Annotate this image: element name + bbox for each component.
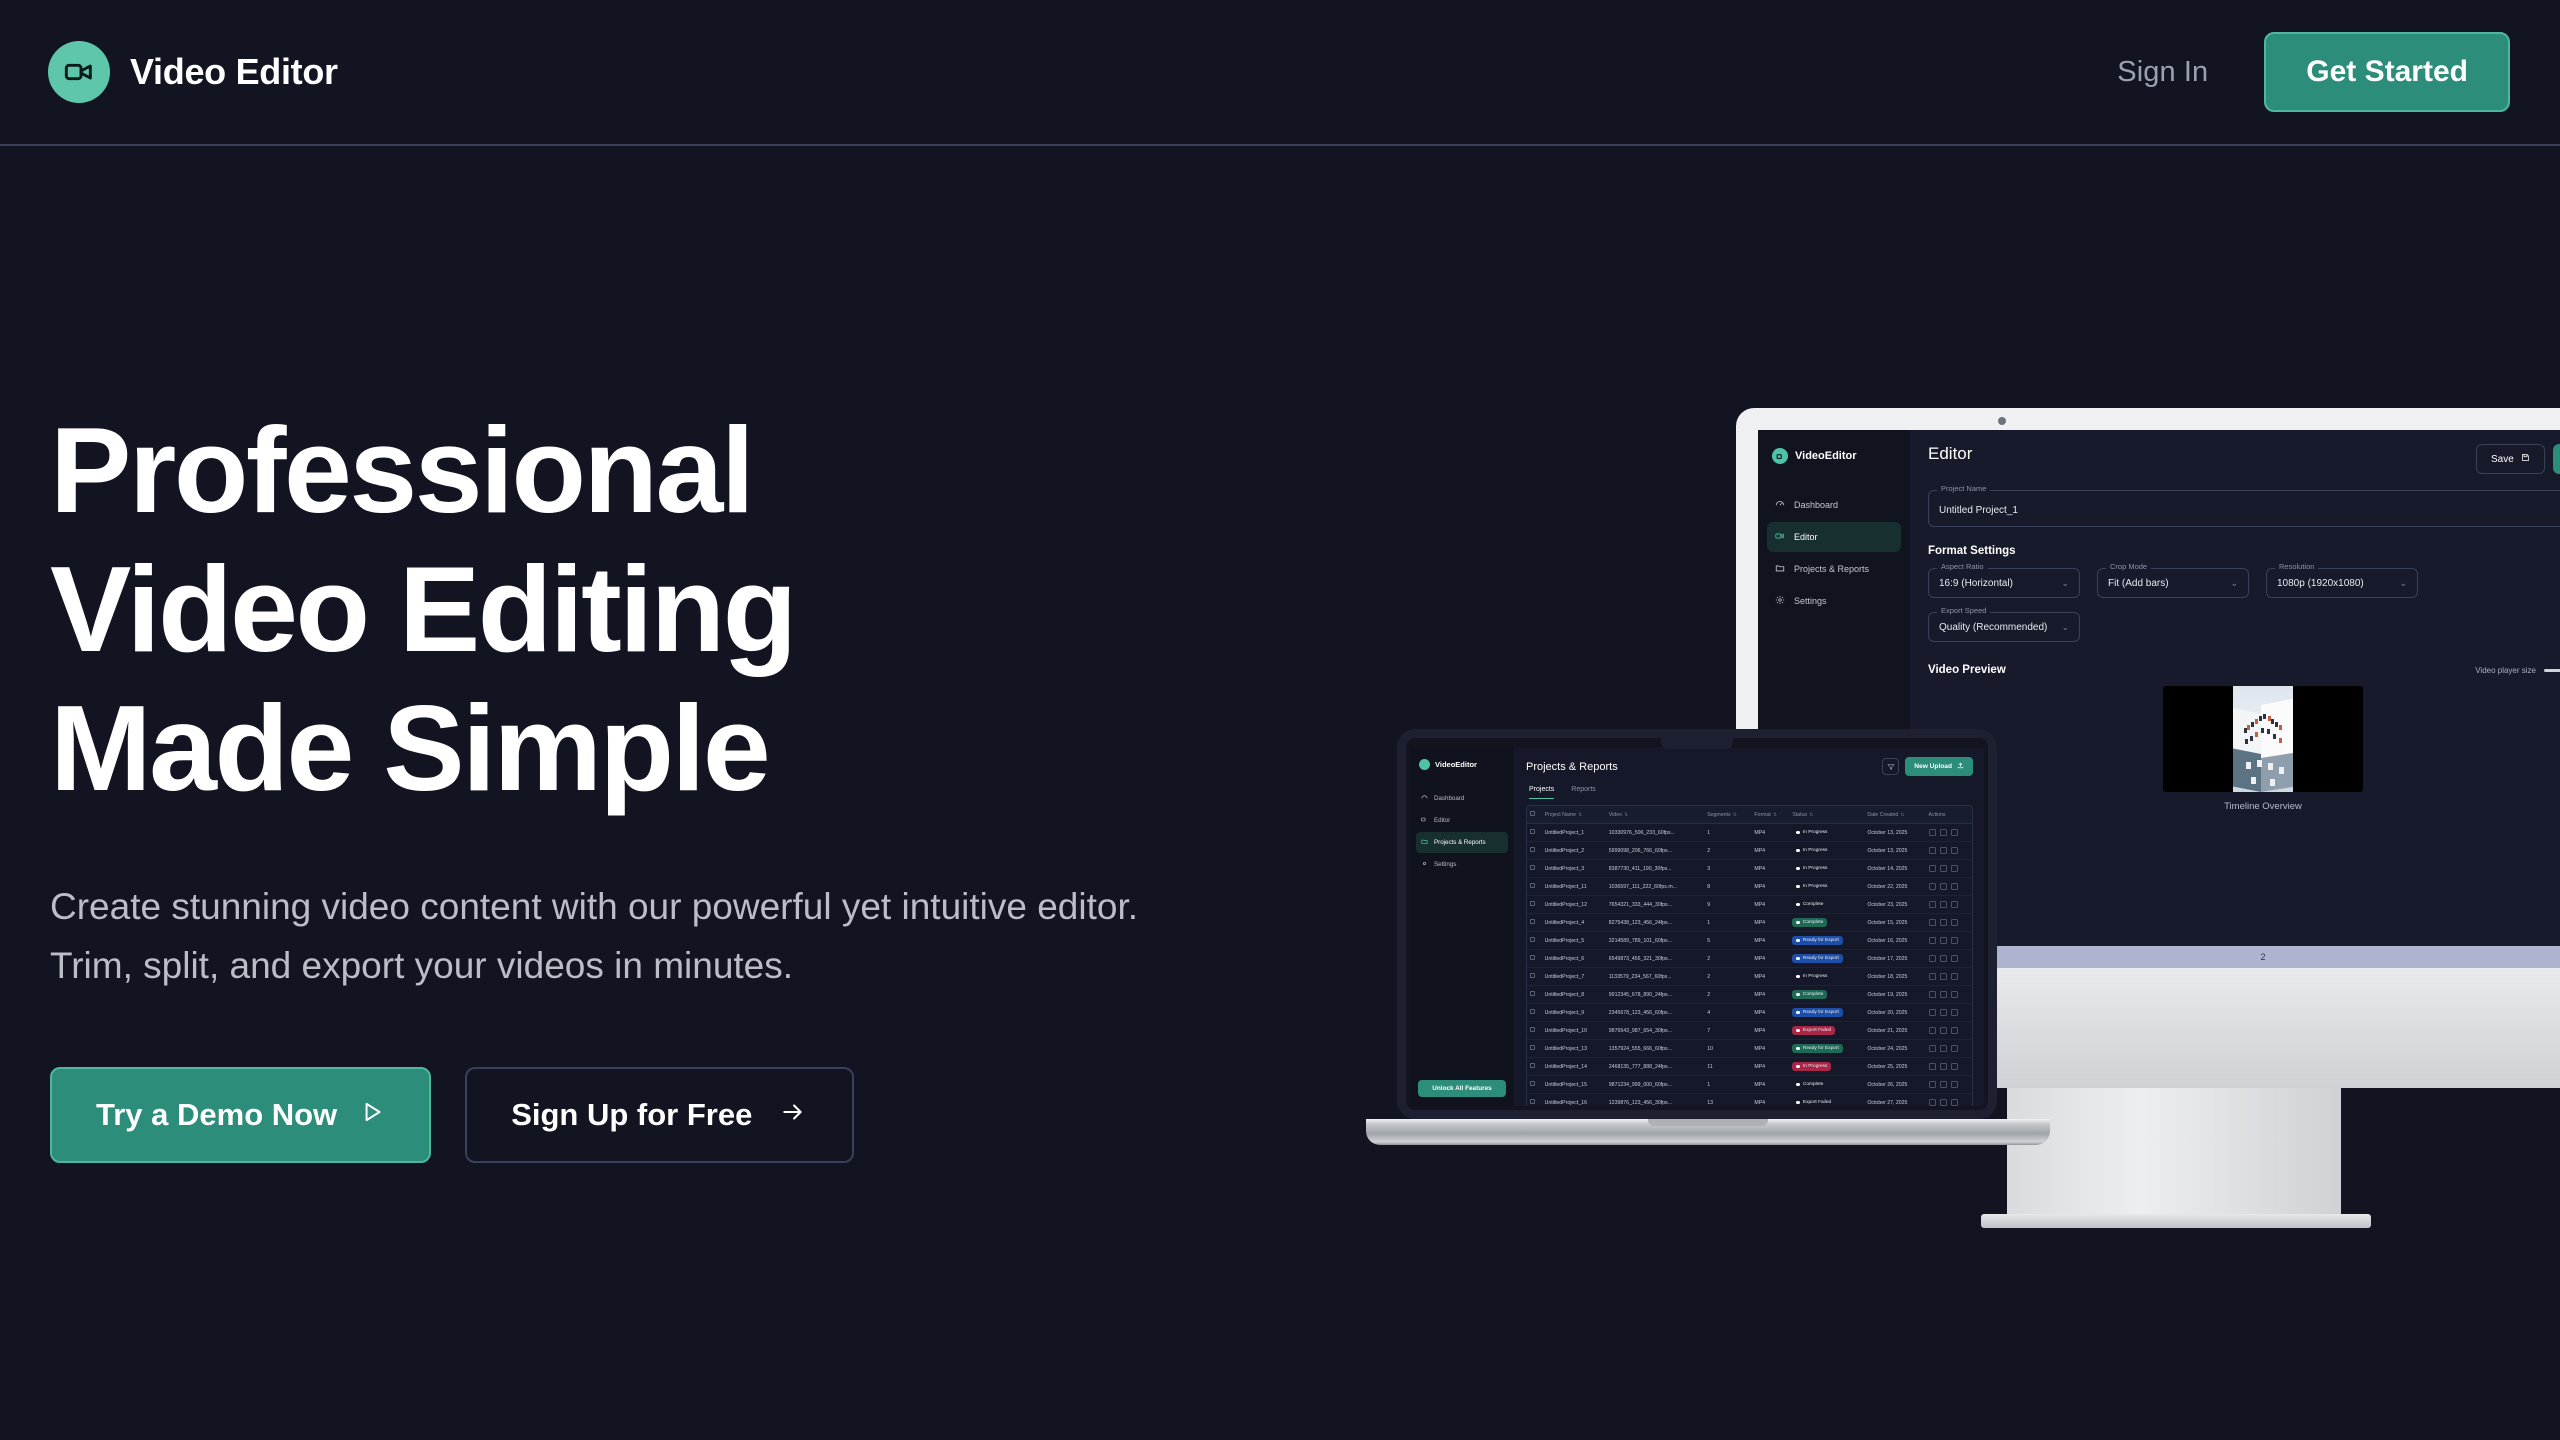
export-speed-value: Quality (Recommended)	[1939, 622, 2047, 633]
download-icon[interactable]	[1940, 955, 1947, 962]
table-row[interactable]: UntitledProject_127654321_333_444_30fps.…	[1527, 896, 1972, 914]
cell-segments: 2	[1704, 842, 1751, 860]
crop-mode-value: Fit (Add bars)	[2108, 578, 2169, 589]
export-speed-select[interactable]: Export Speed Quality (Recommended) ⌄	[1928, 612, 2080, 642]
download-icon[interactable]	[1940, 1045, 1947, 1052]
cell-video: 8275438_123_456_24fps...	[1606, 914, 1704, 932]
trash-icon[interactable]	[1951, 1063, 1958, 1070]
monitor-nav: Dashboard Editor	[1758, 490, 1910, 616]
laptop-page-title: Projects & Reports	[1526, 761, 1618, 773]
table-row[interactable]: UntitledProject_66549873_456_321_30fps..…	[1527, 950, 1972, 968]
status-dot-icon	[1796, 1047, 1800, 1051]
sign-up-label: Sign Up for Free	[511, 1097, 752, 1133]
cell-format: MP4	[1751, 1022, 1789, 1040]
status-dot-icon	[1796, 831, 1800, 835]
unlock-all-features-button[interactable]: Unlock All Features	[1418, 1080, 1506, 1097]
laptop-mockup: VideoEditor Dashboard	[1366, 729, 2050, 1145]
brand[interactable]: Video Editor	[48, 41, 338, 103]
get-started-button[interactable]: Get Started	[2264, 32, 2510, 112]
timeline-value: 2	[2260, 952, 2265, 962]
sidebar-item-editor[interactable]: Editor	[1767, 522, 1901, 552]
cell-status: Complete	[1789, 914, 1864, 932]
cell-status: Ready for Export	[1789, 1004, 1864, 1022]
table-row[interactable]: UntitledProject_25999098_206_766_60fps..…	[1527, 842, 1972, 860]
checkbox-icon[interactable]	[1530, 1045, 1535, 1050]
cell-date-created: October 13, 2025	[1864, 824, 1925, 842]
checkbox-icon[interactable]	[1530, 1009, 1535, 1014]
edit-icon[interactable]	[1929, 829, 1936, 836]
hero-cta-group: Try a Demo Now Sign Up for Free	[50, 1067, 1250, 1163]
download-icon[interactable]	[1940, 919, 1947, 926]
status-badge: Complete	[1792, 1080, 1827, 1089]
sidebar-label: Projects & Reports	[1794, 564, 1869, 574]
chevron-down-icon: ⌄	[2061, 578, 2069, 589]
cell-format: MP4	[1751, 860, 1789, 878]
export-speed-legend: Export Speed	[1937, 606, 1990, 615]
folder-icon	[1775, 563, 1785, 575]
sidebar-item-dashboard[interactable]: Dashboard	[1767, 490, 1901, 520]
laptop-trackpad-notch	[1648, 1119, 1768, 1126]
cell-segments: 8	[1704, 878, 1751, 896]
trash-icon[interactable]	[1951, 1045, 1958, 1052]
download-icon[interactable]	[1940, 1099, 1947, 1106]
video-camera-icon	[1775, 531, 1785, 543]
sign-up-free-button[interactable]: Sign Up for Free	[465, 1067, 854, 1163]
edit-icon[interactable]	[1929, 1081, 1936, 1088]
download-icon[interactable]	[1940, 937, 1947, 944]
row-checkbox[interactable]	[1527, 1058, 1542, 1076]
edit-icon[interactable]	[1929, 1027, 1936, 1034]
header-actions: Sign In Get Started	[2117, 32, 2510, 112]
cell-segments: 2	[1704, 950, 1751, 968]
download-icon[interactable]	[1940, 973, 1947, 980]
trash-icon[interactable]	[1951, 829, 1958, 836]
status-badge: In Progress	[1792, 972, 1831, 981]
cell-format: MP4	[1751, 842, 1789, 860]
video-camera-icon	[1772, 448, 1788, 464]
sort-icon: ⇅	[1624, 812, 1628, 818]
sort-icon: ⇅	[1578, 812, 1582, 818]
sort-icon: ⇅	[1900, 812, 1904, 818]
download-icon[interactable]	[1940, 991, 1947, 998]
laptop-notch-icon	[1661, 738, 1733, 749]
checkbox-icon[interactable]	[1530, 883, 1535, 888]
table-header-row: Project Name⇅ Video⇅ Segments⇅ Format⇅ S…	[1527, 806, 1972, 824]
export-button[interactable]: Exp	[2553, 444, 2560, 474]
cell-project-name: UntitledProject_7	[1542, 968, 1606, 986]
trash-icon[interactable]	[1951, 1081, 1958, 1088]
edit-icon[interactable]	[1929, 1009, 1936, 1016]
cell-status: In Progress	[1789, 968, 1864, 986]
cell-project-name: UntitledProject_8	[1542, 986, 1606, 1004]
checkbox-icon[interactable]	[1530, 937, 1535, 942]
table-row[interactable]: UntitledProject_71133579_234_567_60fps..…	[1527, 968, 1972, 986]
row-checkbox[interactable]	[1527, 986, 1542, 1004]
cell-video: 8387730_411_190_30fps...	[1606, 860, 1704, 878]
cell-project-name: UntitledProject_14	[1542, 1058, 1606, 1076]
laptop-brand-label: VideoEditor	[1435, 760, 1477, 769]
cell-project-name: UntitledProject_3	[1542, 860, 1606, 878]
aspect-ratio-legend: Aspect Ratio	[1937, 562, 1988, 571]
row-checkbox[interactable]	[1527, 860, 1542, 878]
cell-actions	[1926, 896, 1972, 914]
laptop-tabs: Projects Reports	[1529, 786, 1973, 799]
download-icon[interactable]	[1940, 1009, 1947, 1016]
checkbox-icon[interactable]	[1530, 1099, 1535, 1104]
filter-funnel-icon[interactable]	[1882, 758, 1899, 775]
cell-segments: 13	[1704, 1094, 1751, 1107]
crop-mode-select[interactable]: Crop Mode Fit (Add bars) ⌄	[2097, 568, 2249, 598]
gear-icon	[1775, 595, 1785, 607]
cell-video: 1133579_234_567_60fps...	[1606, 968, 1704, 986]
cell-project-name: UntitledProject_15	[1542, 1076, 1606, 1094]
export-speed-row: Export Speed Quality (Recommended) ⌄	[1928, 612, 2560, 642]
download-icon[interactable]	[1940, 847, 1947, 854]
laptop-screen: VideoEditor Dashboard	[1410, 747, 1984, 1106]
cell-date-created: October 21, 2025	[1864, 1022, 1925, 1040]
video-camera-icon	[48, 41, 110, 103]
col-video[interactable]: Video⇅	[1606, 806, 1704, 824]
monitor-brand-label: VideoEditor	[1795, 450, 1857, 462]
checkbox-icon[interactable]	[1530, 901, 1535, 906]
edit-icon[interactable]	[1929, 865, 1936, 872]
cell-project-name: UntitledProject_2	[1542, 842, 1606, 860]
chevron-down-icon: ⌄	[2061, 622, 2069, 633]
cell-video: 9912345_678_890_24fps...	[1606, 986, 1704, 1004]
status-badge: Ready for Export	[1792, 954, 1843, 963]
edit-icon[interactable]	[1929, 937, 1936, 944]
status-badge: Complete	[1792, 990, 1827, 999]
sidebar-item-dashboard[interactable]: Dashboard	[1416, 788, 1508, 809]
cell-project-name: UntitledProject_5	[1542, 932, 1606, 950]
cell-format: MP4	[1751, 896, 1789, 914]
col-status[interactable]: Status⇅	[1789, 806, 1864, 824]
row-checkbox[interactable]	[1527, 932, 1542, 950]
row-checkbox[interactable]	[1527, 1004, 1542, 1022]
status-dot-icon	[1796, 957, 1800, 961]
col-project-name[interactable]: Project Name⇅	[1542, 806, 1606, 824]
projects-table: Project Name⇅ Video⇅ Segments⇅ Format⇅ S…	[1527, 806, 1972, 1106]
tab-reports[interactable]: Reports	[1571, 786, 1596, 799]
status-dot-icon	[1796, 1029, 1800, 1033]
sidebar-label: Editor	[1794, 532, 1818, 542]
cell-date-created: October 22, 2025	[1864, 878, 1925, 896]
row-checkbox[interactable]	[1527, 1094, 1542, 1107]
checkbox-icon[interactable]	[1530, 829, 1535, 834]
aspect-ratio-select[interactable]: Aspect Ratio 16:9 (Horizontal) ⌄	[1928, 568, 2080, 598]
download-icon[interactable]	[1940, 1081, 1947, 1088]
tab-projects[interactable]: Projects	[1529, 786, 1554, 799]
status-dot-icon	[1796, 885, 1800, 889]
cell-actions	[1926, 986, 1972, 1004]
trash-icon[interactable]	[1951, 955, 1958, 962]
sidebar-label: Settings	[1434, 861, 1456, 868]
cell-video: 10330976_506_233_60fps...	[1606, 824, 1704, 842]
player-size-slider-group[interactable]: Video player size	[2475, 666, 2560, 675]
trash-icon[interactable]	[1951, 847, 1958, 854]
download-icon[interactable]	[1940, 883, 1947, 890]
table-row[interactable]: UntitledProject_48275438_123_456_24fps..…	[1527, 914, 1972, 932]
status-dot-icon	[1796, 1065, 1800, 1069]
cell-format: MP4	[1751, 878, 1789, 896]
edit-icon[interactable]	[1929, 919, 1936, 926]
cell-actions	[1926, 1058, 1972, 1076]
try-demo-button[interactable]: Try a Demo Now	[50, 1067, 431, 1163]
cell-date-created: October 25, 2025	[1864, 1058, 1925, 1076]
cell-date-created: October 18, 2025	[1864, 968, 1925, 986]
row-checkbox[interactable]	[1527, 968, 1542, 986]
cell-format: MP4	[1751, 1076, 1789, 1094]
sort-icon: ⇅	[1733, 812, 1737, 818]
cell-project-name: UntitledProject_12	[1542, 896, 1606, 914]
monitor-sidebar-brand: VideoEditor	[1758, 448, 1910, 464]
cell-format: MP4	[1751, 986, 1789, 1004]
format-settings-fields: Aspect Ratio 16:9 (Horizontal) ⌄ Crop Mo…	[1928, 568, 2560, 598]
player-size-slider[interactable]	[2544, 669, 2560, 672]
trash-icon[interactable]	[1951, 973, 1958, 980]
edit-icon[interactable]	[1929, 1099, 1936, 1106]
status-dot-icon	[1796, 993, 1800, 997]
laptop-base	[1366, 1119, 2050, 1145]
cell-actions	[1926, 824, 1972, 842]
status-dot-icon	[1796, 975, 1800, 979]
hero-title-line-2: Video Editing	[50, 541, 795, 677]
checkbox-icon[interactable]	[1530, 865, 1535, 870]
download-icon[interactable]	[1940, 829, 1947, 836]
checkbox-icon[interactable]	[1530, 991, 1535, 996]
save-button[interactable]: Save	[2476, 444, 2545, 474]
table-row[interactable]: UntitledProject_92345678_123_456_60fps..…	[1527, 1004, 1972, 1022]
cell-status: In Progress	[1789, 842, 1864, 860]
cell-date-created: October 26, 2025	[1864, 1076, 1925, 1094]
upload-icon	[1957, 762, 1964, 771]
status-dot-icon	[1796, 903, 1800, 907]
sidebar-item-projects-reports[interactable]: Projects & Reports	[1767, 554, 1901, 584]
cell-actions	[1926, 968, 1972, 986]
gear-icon	[1421, 860, 1428, 869]
row-checkbox[interactable]	[1527, 1076, 1542, 1094]
col-format[interactable]: Format⇅	[1751, 806, 1789, 824]
webcam-dot-icon	[1998, 417, 2006, 425]
cell-segments: 2	[1704, 968, 1751, 986]
project-name-value: Untitled Project_1	[1939, 505, 2018, 516]
cell-date-created: October 17, 2025	[1864, 950, 1925, 968]
row-checkbox[interactable]	[1527, 914, 1542, 932]
checkbox-icon[interactable]	[1530, 1081, 1535, 1086]
video-preview-frame	[2233, 686, 2293, 792]
cell-segments: 1	[1704, 914, 1751, 932]
save-button-label: Save	[2491, 454, 2514, 465]
sidebar-label: Dashboard	[1434, 795, 1464, 802]
edit-icon[interactable]	[1929, 883, 1936, 890]
cell-status: Ready for Export	[1789, 932, 1864, 950]
laptop-nav: Dashboard Editor P	[1410, 788, 1514, 875]
select-all-checkbox-header[interactable]	[1527, 806, 1542, 824]
table-row[interactable]: UntitledProject_109876543_987_654_30fps.…	[1527, 1022, 1972, 1040]
row-checkbox[interactable]	[1527, 1022, 1542, 1040]
checkbox-icon[interactable]	[1530, 919, 1535, 924]
cell-date-created: October 13, 2025	[1864, 842, 1925, 860]
cell-video: 2345678_123_456_60fps...	[1606, 1004, 1704, 1022]
table-head: Project Name⇅ Video⇅ Segments⇅ Format⇅ S…	[1527, 806, 1972, 824]
status-dot-icon	[1796, 1083, 1800, 1087]
cell-actions	[1926, 1004, 1972, 1022]
sidebar-item-editor[interactable]: Editor	[1416, 810, 1508, 831]
trash-icon[interactable]	[1951, 901, 1958, 908]
col-date-created[interactable]: Date Created⇅	[1864, 806, 1925, 824]
download-icon[interactable]	[1940, 1063, 1947, 1070]
table-row[interactable]: UntitledProject_111036597_111_222_60fps.…	[1527, 878, 1972, 896]
download-icon[interactable]	[1940, 1027, 1947, 1034]
cell-status: Export Failed	[1789, 1022, 1864, 1040]
edit-icon[interactable]	[1929, 1063, 1936, 1070]
cell-format: MP4	[1751, 968, 1789, 986]
checkbox-icon[interactable]	[1530, 1027, 1535, 1032]
cell-format: MP4	[1751, 824, 1789, 842]
table-row[interactable]: UntitledProject_142468135_777_888_24fps.…	[1527, 1058, 1972, 1076]
cell-actions	[1926, 950, 1972, 968]
trash-icon[interactable]	[1951, 865, 1958, 872]
edit-icon[interactable]	[1929, 847, 1936, 854]
cell-status: In Progress	[1789, 824, 1864, 842]
table-row[interactable]: UntitledProject_38387730_411_190_30fps..…	[1527, 860, 1972, 878]
table-row[interactable]: UntitledProject_110330976_506_233_60fps.…	[1527, 824, 1972, 842]
col-segments[interactable]: Segments⇅	[1704, 806, 1751, 824]
sort-icon: ⇅	[1773, 812, 1777, 818]
gauge-icon	[1421, 794, 1428, 803]
cell-format: MP4	[1751, 1058, 1789, 1076]
trash-icon[interactable]	[1951, 937, 1958, 944]
trash-icon[interactable]	[1951, 1099, 1958, 1106]
download-icon[interactable]	[1940, 901, 1947, 908]
aspect-ratio-value: 16:9 (Horizontal)	[1939, 578, 2013, 589]
project-name-field[interactable]: Project Name Untitled Project_1	[1928, 490, 2560, 527]
new-upload-label: New Upload	[1914, 763, 1952, 770]
cell-status: In Progress	[1789, 1058, 1864, 1076]
sidebar-item-projects-reports[interactable]: Projects & Reports	[1416, 832, 1508, 853]
trash-icon[interactable]	[1951, 1009, 1958, 1016]
status-badge: Ready for Export	[1792, 1008, 1843, 1017]
cell-date-created: October 24, 2025	[1864, 1040, 1925, 1058]
resolution-value: 1080p (1920x1080)	[2277, 578, 2364, 589]
monitor-top-actions: Save Exp	[2476, 444, 2560, 474]
cell-video: 6549873_456_321_30fps...	[1606, 950, 1704, 968]
video-preview-heading: Video Preview	[1928, 664, 2006, 676]
cell-project-name: UntitledProject_4	[1542, 914, 1606, 932]
row-checkbox[interactable]	[1527, 1040, 1542, 1058]
video-camera-icon	[1419, 759, 1430, 770]
projects-table-wrapper: Project Name⇅ Video⇅ Segments⇅ Format⇅ S…	[1526, 805, 1973, 1106]
row-checkbox[interactable]	[1527, 950, 1542, 968]
cell-status: Ready for Export	[1789, 1040, 1864, 1058]
cell-project-name: UntitledProject_6	[1542, 950, 1606, 968]
cell-date-created: October 15, 2025	[1864, 914, 1925, 932]
chevron-down-icon: ⌄	[2230, 578, 2238, 589]
row-checkbox[interactable]	[1527, 842, 1542, 860]
row-checkbox[interactable]	[1527, 824, 1542, 842]
format-settings-heading: Format Settings	[1928, 545, 2560, 557]
sign-in-link[interactable]: Sign In	[2117, 56, 2208, 89]
cell-video: 1036597_111_222_60fps.m...	[1606, 878, 1704, 896]
trash-icon[interactable]	[1951, 919, 1958, 926]
table-row[interactable]: UntitledProject_161239876_123_456_30fps.…	[1527, 1094, 1972, 1107]
hero-title-line-3: Made Simple	[50, 680, 768, 816]
cell-segments: 4	[1704, 1004, 1751, 1022]
cell-actions	[1926, 1040, 1972, 1058]
chevron-down-icon: ⌄	[2399, 578, 2407, 589]
checkbox-icon[interactable]	[1530, 847, 1535, 852]
cell-format: MP4	[1751, 950, 1789, 968]
cell-status: Complete	[1789, 896, 1864, 914]
laptop-sidebar-brand: VideoEditor	[1410, 759, 1514, 770]
table-row[interactable]: UntitledProject_53214589_789_101_60fps..…	[1527, 932, 1972, 950]
try-demo-label: Try a Demo Now	[96, 1097, 337, 1133]
cell-video: 5999098_206_766_60fps...	[1606, 842, 1704, 860]
cell-video: 7654321_333_444_30fps...	[1606, 896, 1704, 914]
sidebar-item-settings[interactable]: Settings	[1416, 854, 1508, 875]
video-preview-player[interactable]	[2163, 686, 2363, 792]
laptop-lid: VideoEditor Dashboard	[1397, 729, 1997, 1119]
cell-date-created: October 23, 2025	[1864, 896, 1925, 914]
cell-segments: 10	[1704, 1040, 1751, 1058]
cell-date-created: October 27, 2025	[1864, 1094, 1925, 1107]
table-row[interactable]: UntitledProject_131357924_555_666_60fps.…	[1527, 1040, 1972, 1058]
cell-project-name: UntitledProject_13	[1542, 1040, 1606, 1058]
cell-date-created: October 16, 2025	[1864, 932, 1925, 950]
cell-project-name: UntitledProject_16	[1542, 1094, 1606, 1107]
sidebar-item-settings[interactable]: Settings	[1767, 586, 1901, 616]
trash-icon[interactable]	[1951, 991, 1958, 998]
status-dot-icon	[1796, 1011, 1800, 1015]
resolution-select[interactable]: Resolution 1080p (1920x1080) ⌄	[2266, 568, 2418, 598]
cell-segments: 3	[1704, 860, 1751, 878]
row-checkbox[interactable]	[1527, 896, 1542, 914]
cell-video: 1239876_123_456_30fps...	[1606, 1094, 1704, 1107]
edit-icon[interactable]	[1929, 901, 1936, 908]
checkbox-icon[interactable]	[1530, 973, 1535, 978]
sidebar-label: Dashboard	[1794, 500, 1838, 510]
edit-icon[interactable]	[1929, 1045, 1936, 1052]
cell-actions	[1926, 860, 1972, 878]
edit-icon[interactable]	[1929, 955, 1936, 962]
brand-name: Video Editor	[130, 51, 338, 93]
checkbox-icon[interactable]	[1530, 811, 1535, 816]
download-icon[interactable]	[1940, 865, 1947, 872]
folder-icon	[1421, 838, 1428, 847]
row-checkbox[interactable]	[1527, 878, 1542, 896]
cell-segments: 9	[1704, 896, 1751, 914]
new-upload-button[interactable]: New Upload	[1905, 757, 1973, 776]
monitor-stand-base	[1981, 1214, 2371, 1228]
status-badge: In Progress	[1792, 882, 1831, 891]
cell-video: 9876543_987_654_30fps...	[1606, 1022, 1704, 1040]
cell-actions	[1926, 1076, 1972, 1094]
trash-icon[interactable]	[1951, 1027, 1958, 1034]
status-badge: Ready for Export	[1792, 936, 1843, 945]
cell-status: Ready for Export	[1789, 950, 1864, 968]
status-badge: In Progress	[1792, 864, 1831, 873]
edit-icon[interactable]	[1929, 991, 1936, 998]
status-badge: Complete	[1792, 918, 1827, 927]
trash-icon[interactable]	[1951, 883, 1958, 890]
edit-icon[interactable]	[1929, 973, 1936, 980]
cell-project-name: UntitledProject_9	[1542, 1004, 1606, 1022]
table-row[interactable]: UntitledProject_159871234_999_000_60fps.…	[1527, 1076, 1972, 1094]
checkbox-icon[interactable]	[1530, 1063, 1535, 1068]
cell-actions	[1926, 914, 1972, 932]
table-row[interactable]: UntitledProject_89912345_678_890_24fps..…	[1527, 986, 1972, 1004]
checkbox-icon[interactable]	[1530, 955, 1535, 960]
